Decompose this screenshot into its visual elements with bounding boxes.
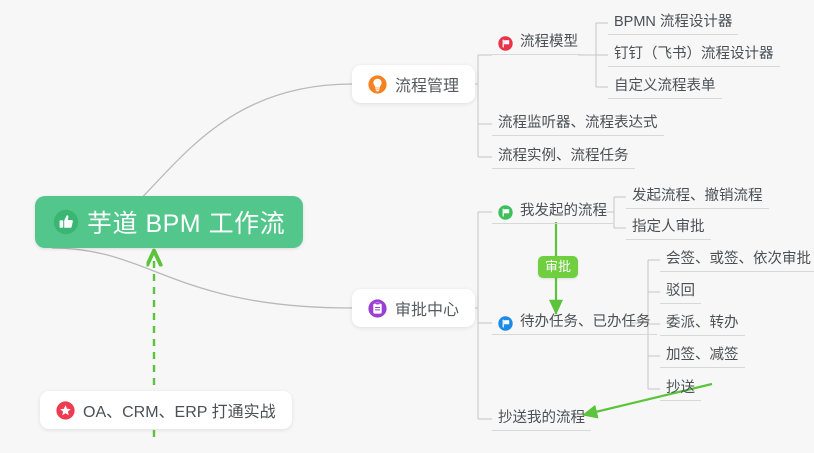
leaf-node[interactable]: 加签、减签: [660, 342, 745, 368]
approval-badge: 审批: [538, 256, 578, 278]
leaf-node-label: 自定义流程表单: [614, 77, 716, 95]
branch-node-label: 流程管理: [395, 72, 459, 96]
root-node[interactable]: 芋道 BPM 工作流: [35, 196, 303, 248]
floating-node-label: OA、CRM、ERP 打通实战: [83, 398, 276, 422]
leaf-node-label: BPMN 流程设计器: [614, 13, 732, 31]
leaf-node[interactable]: 会签、或签、依次审批: [660, 246, 814, 272]
leaf-node[interactable]: 抄送: [660, 375, 701, 401]
leaf-node-label: 加签、减签: [666, 346, 739, 364]
flag-green-icon: [498, 205, 513, 220]
leaf-node-label: 指定人审批: [632, 218, 705, 236]
leaf-node-label: 抄送我的流程: [498, 409, 585, 427]
leaf-node-cc-to-me[interactable]: 抄送我的流程: [492, 405, 591, 431]
sub-node-process-model[interactable]: 流程模型: [492, 29, 584, 55]
flag-blue-icon: [498, 316, 513, 331]
sub-node-label: 流程模型: [520, 33, 578, 51]
leaf-node[interactable]: 指定人审批: [626, 214, 711, 240]
flag-red-icon: [498, 36, 513, 51]
sub-node-label: 待办任务、已办任务: [520, 313, 651, 331]
sub-node-label: 我发起的流程: [520, 202, 607, 220]
leaf-node-label: 发起流程、撤销流程: [632, 187, 763, 205]
sub-node-my-started-process[interactable]: 我发起的流程: [492, 198, 613, 224]
leaf-node[interactable]: 流程监听器、流程表达式: [492, 110, 664, 136]
mindmap-canvas: 芋道 BPM 工作流 流程管理 流程模型 BPMN 流程设计器 钉钉（飞书: [0, 0, 814, 453]
leaf-node[interactable]: 自定义流程表单: [608, 73, 722, 99]
root-node-label: 芋道 BPM 工作流: [87, 204, 285, 240]
branch-node-approval-center[interactable]: 审批中心: [352, 289, 475, 327]
thumbs-up-icon: [53, 209, 79, 235]
lightbulb-icon: [368, 75, 387, 94]
branch-node-process-management[interactable]: 流程管理: [352, 65, 475, 103]
leaf-node-label: 委派、转办: [666, 314, 739, 332]
leaf-node[interactable]: 委派、转办: [660, 310, 745, 336]
clipboard-icon: [368, 299, 387, 318]
star-icon: [56, 401, 75, 420]
leaf-node[interactable]: 驳回: [660, 278, 701, 304]
leaf-node-label: 驳回: [666, 282, 695, 300]
leaf-node-label: 流程实例、流程任务: [498, 147, 629, 165]
leaf-node[interactable]: BPMN 流程设计器: [608, 9, 738, 35]
floating-node-integration-practice[interactable]: OA、CRM、ERP 打通实战: [40, 391, 292, 429]
leaf-node[interactable]: 钉钉（飞书）流程设计器: [608, 41, 780, 67]
leaf-node-label: 抄送: [666, 379, 695, 397]
leaf-node-label: 会签、或签、依次审批: [666, 250, 811, 268]
sub-node-todo-done-tasks[interactable]: 待办任务、已办任务: [492, 309, 657, 335]
leaf-node-label: 钉钉（飞书）流程设计器: [614, 45, 774, 63]
branch-node-label: 审批中心: [395, 296, 459, 320]
leaf-node[interactable]: 发起流程、撤销流程: [626, 183, 769, 209]
leaf-node-label: 流程监听器、流程表达式: [498, 114, 658, 132]
leaf-node[interactable]: 流程实例、流程任务: [492, 143, 635, 169]
